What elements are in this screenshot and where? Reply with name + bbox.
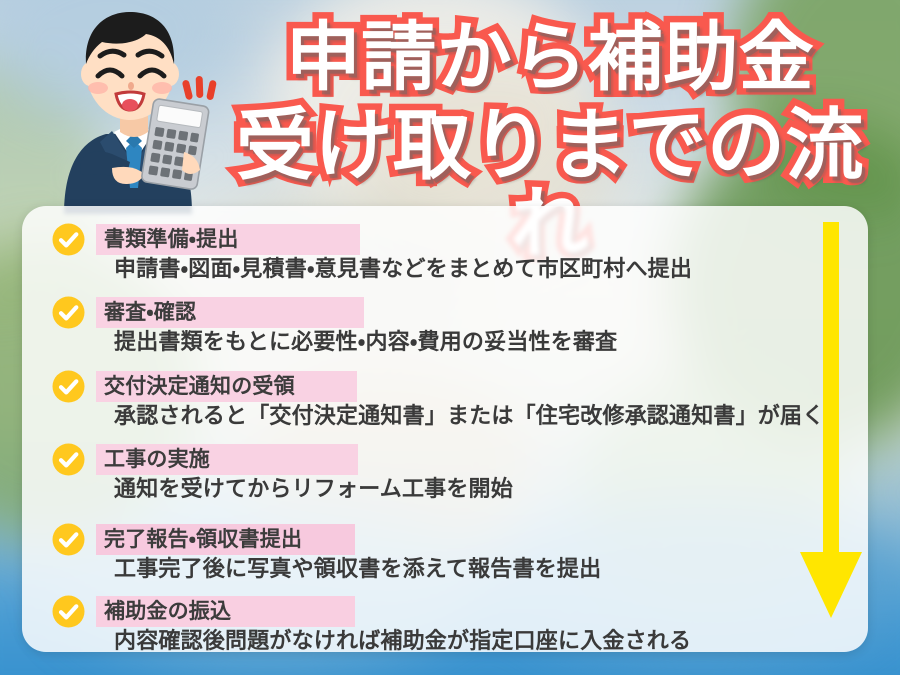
businessman-illustration bbox=[34, 2, 234, 214]
step-heading: 審査・確認 bbox=[96, 297, 364, 328]
check-circle-icon bbox=[52, 523, 85, 556]
step-description: 通知を受けてからリフォーム工事を開始 bbox=[114, 477, 513, 503]
step-description: 工事完了後に写真や領収書を添えて報告書を提出 bbox=[114, 557, 601, 583]
check-circle-icon bbox=[52, 443, 85, 476]
step-heading: 完了報告・領収書提出 bbox=[96, 524, 355, 555]
check-circle-icon bbox=[52, 370, 85, 403]
step-description: 提出書類をもとに必要性・内容・費用の妥当性を審査 bbox=[114, 330, 617, 356]
step-heading: 交付決定通知の受領 bbox=[96, 371, 357, 402]
step-description: 承認されると「交付決定通知書」または「住宅改修承認通知書」が届く bbox=[114, 404, 824, 430]
down-arrow-icon bbox=[796, 222, 866, 622]
check-circle-icon bbox=[52, 296, 85, 329]
steps-list: 書類準備・提出 申請書・図面・見積書・意見書などをまとめて市区町村へ提出 審査・… bbox=[22, 206, 868, 652]
check-circle-icon bbox=[52, 595, 85, 628]
check-circle-icon bbox=[52, 223, 85, 256]
step-heading: 工事の実施 bbox=[96, 444, 358, 475]
step-heading: 書類準備・提出 bbox=[96, 224, 360, 255]
steps-card: 書類準備・提出 申請書・図面・見積書・意見書などをまとめて市区町村へ提出 審査・… bbox=[22, 206, 868, 652]
step-description: 内容確認後問題がなければ補助金が指定口座に入金される bbox=[114, 629, 691, 655]
step-description: 申請書・図面・見積書・意見書などをまとめて市区町村へ提出 bbox=[114, 257, 692, 283]
step-heading: 補助金の振込 bbox=[96, 596, 355, 627]
infographic-root: 申請から補助金 受け取りまでの流れ 書類準備・提出 申請書・図面・見積書・意見書… bbox=[0, 0, 900, 675]
